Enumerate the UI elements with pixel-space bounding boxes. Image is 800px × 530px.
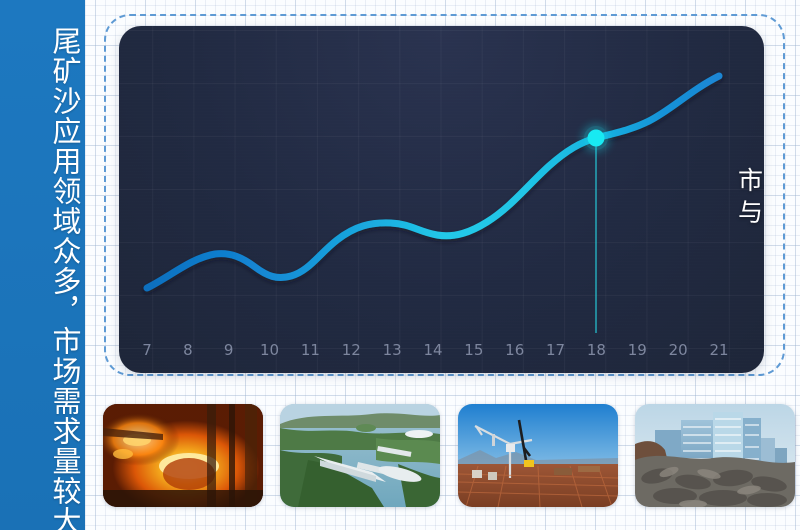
x-axis-tick-8: 8: [183, 341, 193, 359]
x-axis-tick-18: 18: [587, 341, 606, 359]
highlight-point-marker[interactable]: [588, 130, 605, 147]
chart-annotation: 市场需求 与日俱增: [738, 165, 764, 229]
photo-urban-demolition-rubble[interactable]: [635, 404, 795, 507]
sidebar-banner: 尾矿沙应用领域众多，市场需求量较大: [0, 0, 85, 530]
x-axis-tick-16: 16: [505, 341, 524, 359]
trend-line: [147, 76, 719, 288]
x-axis-tick-10: 10: [260, 341, 279, 359]
x-axis-tick-19: 19: [628, 341, 647, 359]
photo-river-locks-waterway[interactable]: [280, 404, 440, 507]
x-axis-tick-11: 11: [301, 341, 320, 359]
chart-plot: [119, 26, 764, 373]
x-axis-tick-13: 13: [383, 341, 402, 359]
x-axis-tick-14: 14: [423, 341, 442, 359]
sidebar-headline: 尾矿沙应用领域众多，市场需求量较大: [49, 26, 79, 520]
x-axis-tick-12: 12: [342, 341, 361, 359]
chart-panel: 789101112131415161718192021 市场需求 与日俱增: [119, 26, 764, 373]
construction-site-image: [458, 404, 618, 507]
steel-mill-image: [103, 404, 263, 507]
photo-steel-mill-molten-metal[interactable]: [103, 404, 263, 507]
river-locks-image: [280, 404, 440, 507]
x-axis-tick-15: 15: [464, 341, 483, 359]
photo-construction-site-cranes[interactable]: [458, 404, 618, 507]
photo-thumbnail-strip: [103, 404, 795, 514]
x-axis-tick-9: 9: [224, 341, 234, 359]
x-axis-tick-17: 17: [546, 341, 565, 359]
page-root: 尾矿沙应用领域众多，市场需求量较大: [0, 0, 800, 530]
x-axis-tick-20: 20: [669, 341, 688, 359]
demolition-rubble-image: [635, 404, 795, 507]
x-axis-tick-7: 7: [142, 341, 152, 359]
x-axis-tick-21: 21: [709, 341, 728, 359]
x-axis-tick-labels: 789101112131415161718192021: [119, 337, 764, 359]
